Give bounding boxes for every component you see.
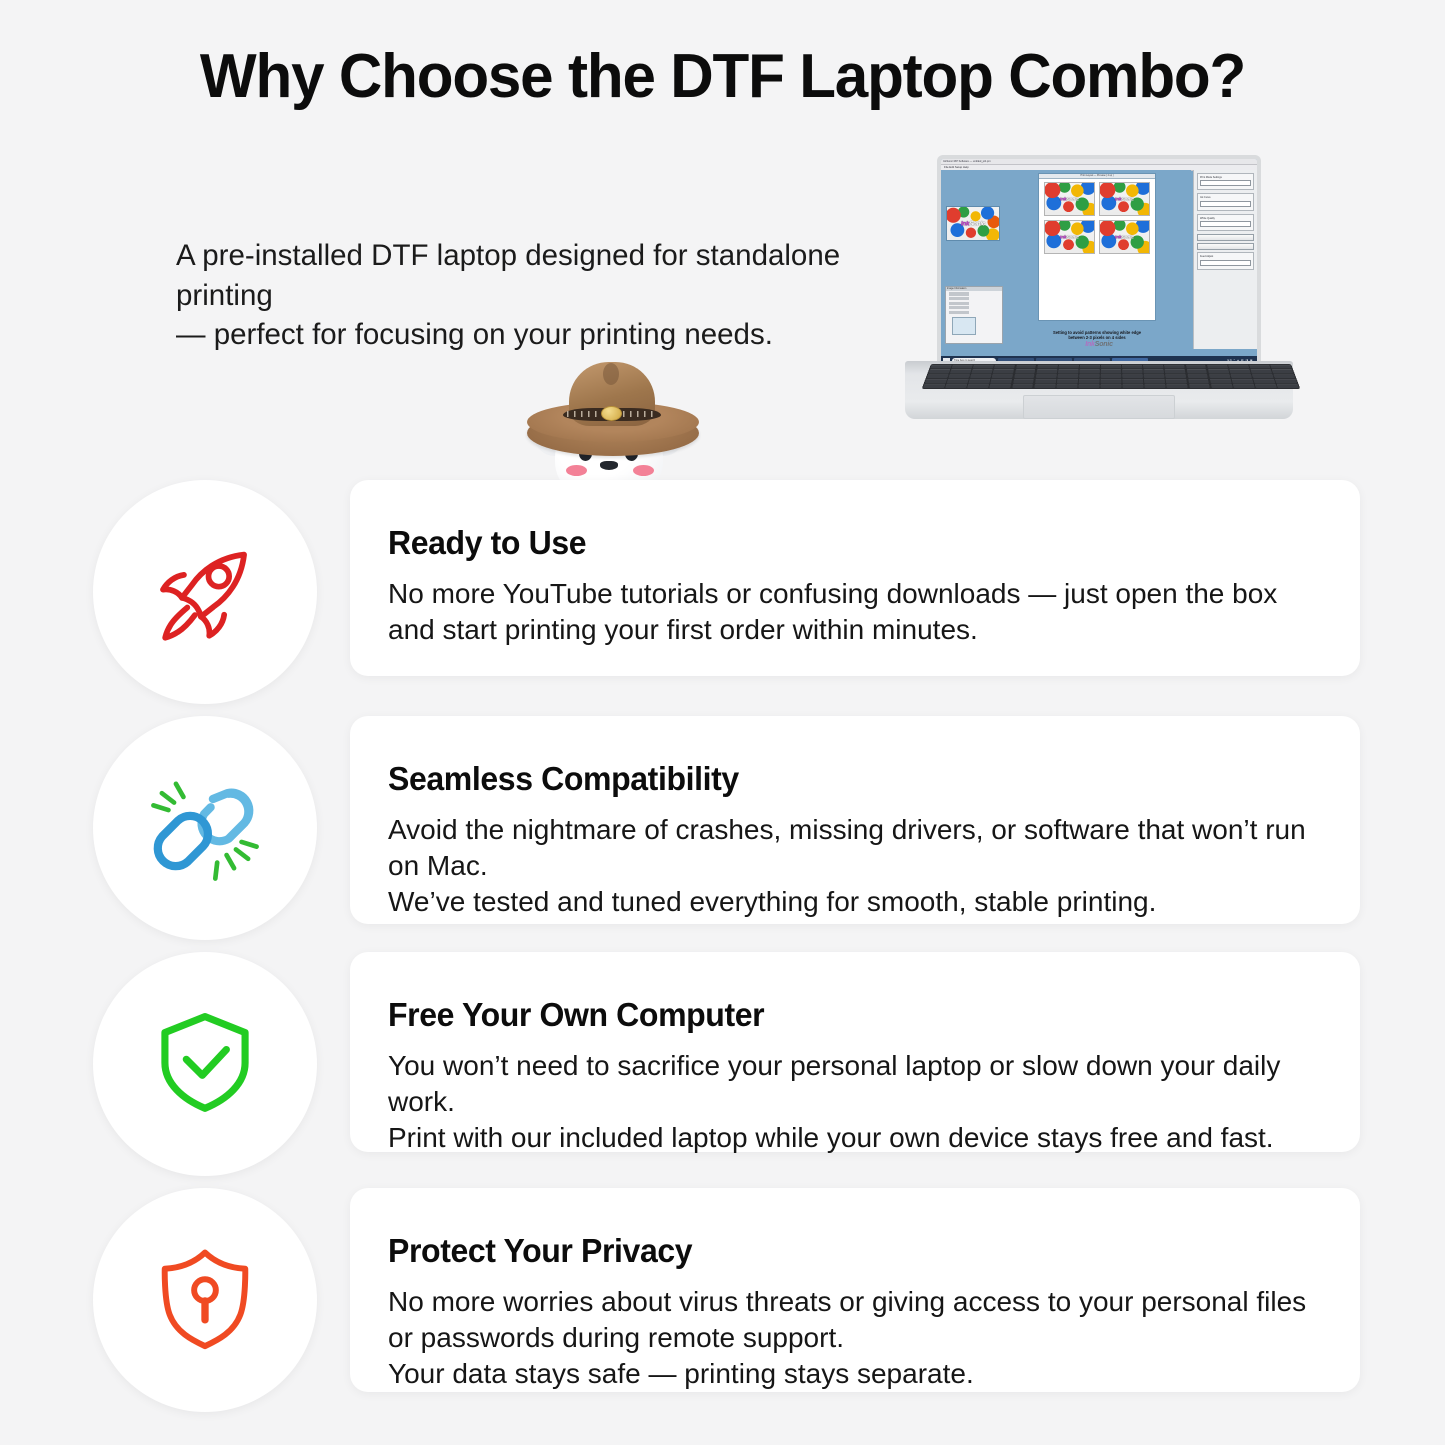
intro-paragraph: A pre-installed DTF laptop designed for … [176, 236, 876, 355]
laptop-screen: InkSonic RIP Software — untitled_job.prn… [941, 159, 1257, 365]
print-tile-grid: InkSonic InkSonic InkSonic InkSonic [1039, 179, 1155, 257]
image-info-box: Image Information [945, 286, 1003, 344]
keyboard-key [1123, 384, 1144, 388]
keyboard-key [992, 374, 1013, 378]
keyboard-row [927, 374, 1295, 378]
control-label: Print Mode Settings [1200, 176, 1251, 179]
keyboard-key [1228, 365, 1249, 369]
keyboard-key [994, 365, 1015, 369]
print-tile: InkSonic [1044, 182, 1095, 216]
feature-card-ready-to-use: Ready to Use No more YouTube tutorials o… [350, 480, 1360, 676]
tile-logo-prefix: Ink [1060, 235, 1067, 240]
keyboard-key [1186, 370, 1207, 374]
keyboard-key [993, 370, 1014, 374]
software-note-text: Setting to avoid patterns showing white … [1003, 330, 1191, 341]
control-field [1200, 180, 1251, 186]
keyboard-key [1210, 379, 1231, 383]
keyboard-key [1080, 365, 1100, 369]
feature-row-protect-your-privacy: Protect Your Privacy No more worries abo… [0, 1182, 1445, 1418]
keyboard-key [1012, 384, 1034, 388]
keyboard-key [1277, 384, 1299, 388]
info-line [949, 306, 999, 309]
print-page-preview: Print Layout — Preview [ 4 up ] InkSonic… [1038, 173, 1156, 321]
print-tile: InkSonic [1099, 220, 1150, 254]
keyboard-key [1035, 374, 1056, 378]
keyboard-key [1144, 379, 1165, 383]
keyboard-key [1122, 374, 1143, 378]
keyboard-row [929, 370, 1294, 374]
page-title: Why Choose the DTF Laptop Combo? [22, 44, 1424, 111]
keyboard-key [1122, 370, 1142, 374]
laptop-base [893, 361, 1305, 427]
keyboard-key [1165, 365, 1186, 369]
broken-link-icon [145, 766, 265, 891]
keyboard-key [1144, 374, 1165, 378]
print-tile-logo: InkSonic [1060, 235, 1079, 240]
keyboard-key [923, 384, 945, 388]
keyboard-key [1078, 384, 1099, 388]
keyboard-key [1057, 374, 1078, 378]
keyboard-key [1057, 379, 1078, 383]
laptop-trackpad [1023, 395, 1175, 419]
keyboard-key [1253, 379, 1275, 383]
keyboard-key [1272, 370, 1294, 374]
keyboard-key [948, 374, 970, 378]
info-line [949, 292, 999, 295]
feature-list: Ready to Use No more YouTube tutorials o… [0, 474, 1445, 1418]
control-button [1197, 243, 1254, 250]
keyboard-key [1035, 379, 1056, 383]
keyboard-key [1188, 379, 1209, 383]
keyboard-key [1122, 365, 1142, 369]
keyboard-key [1166, 374, 1187, 378]
image-thumbnail: InkSonic [946, 206, 1000, 241]
keyboard-key [990, 384, 1012, 388]
keyboard-key [1036, 370, 1057, 374]
software-canvas: Print Layout — Preview [ 4 up ] InkSonic… [1003, 170, 1191, 323]
control-label: Feed Adjust [1200, 255, 1251, 258]
keyboard-key [1079, 370, 1099, 374]
info-mini-preview [952, 317, 976, 335]
keyboard-key [1034, 384, 1055, 388]
shield-check-icon [148, 1005, 262, 1124]
feature-row-ready-to-use: Ready to Use No more YouTube tutorials o… [0, 474, 1445, 710]
keyboard-key [1016, 365, 1037, 369]
info-line [949, 297, 999, 300]
control-group: Ink Curve [1197, 193, 1254, 210]
keyboard-row [930, 365, 1291, 369]
control-field [1200, 201, 1251, 207]
feature-icon-circle-4 [93, 1188, 317, 1412]
keyboard-key [1209, 374, 1230, 378]
keyboard-key [945, 384, 967, 388]
feature-body: Avoid the nightmare of crashes, missing … [388, 812, 1320, 920]
footer-logo-prefix: Ink [1085, 341, 1095, 348]
feature-icon-circle-3 [93, 952, 317, 1176]
feature-body: No more worries about virus threats or g… [388, 1284, 1320, 1392]
keyboard-key [1187, 374, 1208, 378]
cowboy-hat-buckle [601, 406, 622, 421]
cowboy-bear-mascot [513, 358, 713, 493]
keyboard-key [1056, 384, 1077, 388]
keyboard-key [1249, 365, 1270, 369]
keyboard-key [1270, 365, 1291, 369]
keyboard-key [1101, 365, 1121, 369]
feature-card-seamless-compatibility: Seamless Compatibility Avoid the nightma… [350, 716, 1360, 924]
keyboard-key [925, 379, 947, 383]
tile-logo-suffix: Sonic [1067, 197, 1080, 202]
keyboard-key [1058, 370, 1079, 374]
keyboard-key [1013, 379, 1034, 383]
keyboard-key [1229, 370, 1250, 374]
print-tile-logo: InkSonic [1060, 197, 1079, 202]
software-footer-logo: InkSonic [941, 341, 1257, 348]
software-workspace: InkSonic Image Information Print La [941, 170, 1257, 349]
feature-row-seamless-compatibility: Seamless Compatibility Avoid the nightma… [0, 710, 1445, 946]
keyboard-key [969, 379, 991, 383]
shield-keyhole-icon [149, 1242, 261, 1359]
feature-title: Protect Your Privacy [388, 1232, 1292, 1270]
keyboard-key [1101, 384, 1122, 388]
keyboard-row [923, 384, 1299, 388]
keyboard-key [1186, 365, 1207, 369]
keyboard-key [973, 365, 994, 369]
keyboard-key [1211, 384, 1233, 388]
keyboard-key [929, 370, 951, 374]
keyboard-key [1255, 384, 1277, 388]
bear-nose [600, 461, 618, 470]
keyboard-key [952, 365, 973, 369]
print-tile-logo: InkSonic [1115, 235, 1134, 240]
keyboard-key [967, 384, 989, 388]
control-button [1197, 234, 1254, 241]
image-info-title: Image Information [946, 287, 1002, 291]
keyboard-key [950, 370, 971, 374]
keyboard-key [1014, 374, 1035, 378]
feature-card-protect-your-privacy: Protect Your Privacy No more worries abo… [350, 1188, 1360, 1392]
keyboard-key [1251, 370, 1272, 374]
feature-title: Ready to Use [388, 524, 1292, 562]
keyboard-key [970, 374, 991, 378]
keyboard-key [1189, 384, 1211, 388]
info-line [949, 311, 999, 314]
keyboard-key [1166, 379, 1187, 383]
feature-icon-circle-1 [93, 480, 317, 704]
laptop-lid: InkSonic RIP Software — untitled_job.prn… [937, 155, 1261, 365]
feature-title: Seamless Compatibility [388, 760, 1292, 798]
tile-logo-suffix: Sonic [1122, 235, 1135, 240]
feature-row-free-your-own-computer: Free Your Own Computer You won’t need to… [0, 946, 1445, 1182]
thumbnail-logo-suffix: Sonic [969, 221, 985, 228]
keyboard-key [1101, 379, 1122, 383]
feature-icon-circle-2 [93, 716, 317, 940]
keyboard-key [1252, 374, 1274, 378]
feature-title: Free Your Own Computer [388, 996, 1292, 1034]
keyboard-key [1208, 370, 1229, 374]
keyboard-key [1275, 379, 1297, 383]
keyboard-key [1058, 365, 1078, 369]
keyboard-key [1037, 365, 1058, 369]
control-field [1200, 221, 1251, 227]
keyboard-key [947, 379, 969, 383]
software-left-panel: InkSonic Image Information [941, 170, 1003, 349]
print-tile: InkSonic [1099, 182, 1150, 216]
keyboard-key [1079, 379, 1100, 383]
control-group: Print Mode Settings [1197, 173, 1254, 190]
control-group: Feed Adjust [1197, 252, 1254, 269]
footer-logo-suffix: Sonic [1095, 341, 1113, 348]
keyboard-key [991, 379, 1012, 383]
print-tile-logo: InkSonic [1115, 197, 1134, 202]
cowboy-hat-crease [603, 363, 619, 385]
keyboard-key [1144, 370, 1165, 374]
keyboard-key [930, 365, 951, 369]
keyboard-key [1233, 384, 1255, 388]
keyboard-key [972, 370, 993, 374]
control-label: Ink Curve [1200, 196, 1251, 199]
keyboard-row [925, 379, 1297, 383]
keyboard-key [927, 374, 949, 378]
tile-logo-prefix: Ink [1115, 197, 1122, 202]
thumbnail-logo: InkSonic [961, 221, 985, 228]
tile-logo-prefix: Ink [1115, 235, 1122, 240]
keyboard-key [1145, 384, 1166, 388]
tile-logo-suffix: Sonic [1067, 235, 1080, 240]
keyboard-key [1207, 365, 1228, 369]
keyboard-key [1079, 374, 1100, 378]
print-tile: InkSonic [1044, 220, 1095, 254]
tile-logo-prefix: Ink [1060, 197, 1067, 202]
laptop-keyboard [922, 364, 1301, 389]
laptop-product-image: InkSonic RIP Software — untitled_job.prn… [893, 155, 1305, 443]
control-group: White Quality [1197, 214, 1254, 231]
feature-body: No more YouTube tutorials or confusing d… [388, 576, 1320, 648]
control-field [1200, 260, 1251, 266]
control-label: White Quality [1200, 217, 1251, 220]
keyboard-key [1123, 379, 1144, 383]
keyboard-key [1143, 365, 1163, 369]
keyboard-key [1015, 370, 1036, 374]
feature-body: You won’t need to sacrifice your persona… [388, 1048, 1320, 1156]
laptop-deck [905, 361, 1293, 419]
keyboard-key [1101, 374, 1122, 378]
keyboard-key [1165, 370, 1186, 374]
keyboard-key [1167, 384, 1188, 388]
software-right-panel: Print Mode Settings Ink Curve White Qual… [1193, 170, 1257, 349]
keyboard-key [1230, 374, 1251, 378]
keyboard-key [1101, 370, 1121, 374]
feature-card-free-your-own-computer: Free Your Own Computer You won’t need to… [350, 952, 1360, 1152]
info-line [949, 302, 999, 305]
tile-logo-suffix: Sonic [1122, 197, 1135, 202]
keyboard-key [1273, 374, 1295, 378]
rocket-icon [146, 531, 264, 654]
keyboard-key [1231, 379, 1253, 383]
